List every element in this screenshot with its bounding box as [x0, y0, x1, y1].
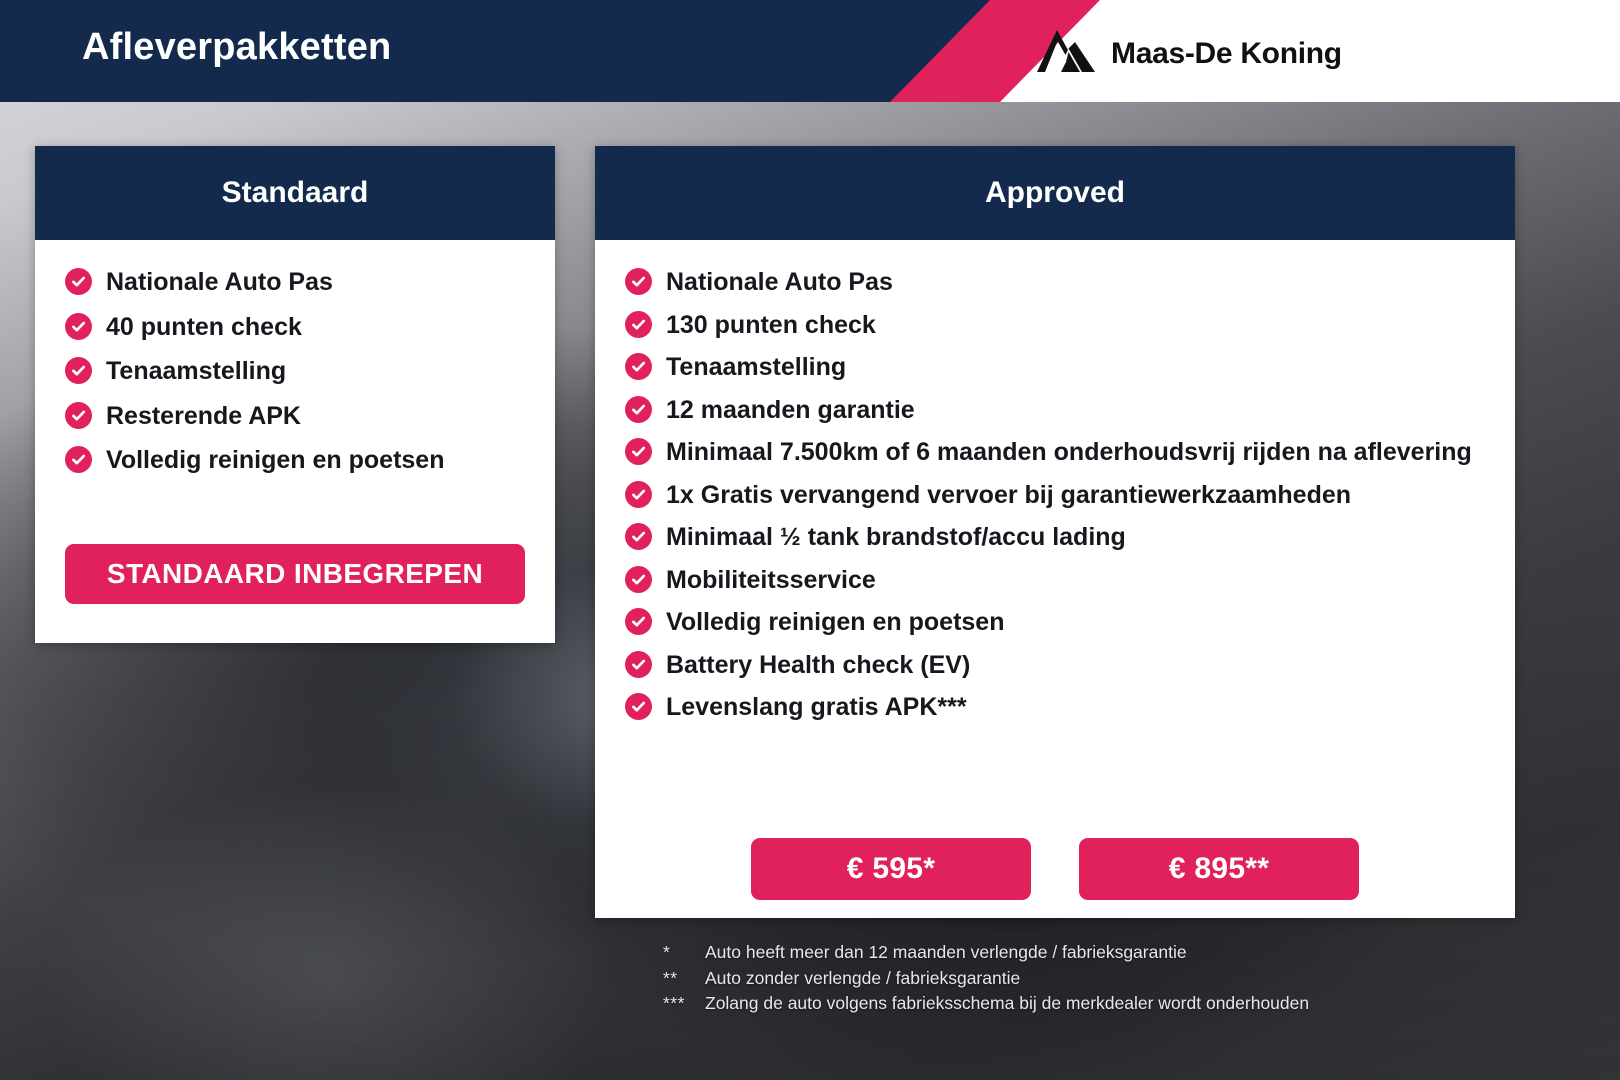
check-circle-icon — [65, 402, 92, 429]
check-circle-icon — [625, 311, 652, 338]
card-body-standaard: Nationale Auto Pas40 punten checkTenaams… — [35, 265, 555, 478]
standaard-inbegrepen-button[interactable]: STANDAARD INBEGREPEN — [65, 544, 525, 604]
check-circle-icon — [625, 651, 652, 678]
list-item: Volledig reinigen en poetsen — [65, 443, 535, 478]
list-item: Volledig reinigen en poetsen — [625, 605, 1495, 640]
list-item-label: Volledig reinigen en poetsen — [106, 443, 444, 478]
card-header-standaard: Standaard — [35, 146, 555, 240]
list-item: Battery Health check (EV) — [625, 648, 1495, 683]
list-item-label: Mobiliteitsservice — [666, 563, 876, 598]
list-item-label: 1x Gratis vervangend vervoer bij garanti… — [666, 478, 1351, 513]
check-circle-icon — [65, 268, 92, 295]
list-item-label: Tenaamstelling — [106, 354, 286, 389]
list-item: Levenslang gratis APK*** — [625, 690, 1495, 725]
check-circle-icon — [625, 566, 652, 593]
page-title: Afleverpakketten — [82, 26, 391, 69]
list-item: Nationale Auto Pas — [625, 265, 1495, 300]
list-item-label: Levenslang gratis APK*** — [666, 690, 967, 725]
list-item: 40 punten check — [65, 310, 535, 345]
list-item-label: 130 punten check — [666, 308, 876, 343]
package-card-standaard: Standaard Nationale Auto Pas40 punten ch… — [35, 146, 555, 643]
list-item-label: Tenaamstelling — [666, 350, 846, 385]
footnote-marker: * — [663, 940, 705, 966]
footnote-block: *Auto heeft meer dan 12 maanden verlengd… — [663, 940, 1543, 1017]
check-circle-icon — [65, 446, 92, 473]
brand-logo: Maas-De Koning — [1035, 28, 1342, 79]
feature-list-approved: Nationale Auto Pas130 punten checkTenaam… — [595, 265, 1515, 725]
footnote-row: ***Zolang de auto volgens fabrieksschema… — [663, 991, 1543, 1017]
check-circle-icon — [625, 438, 652, 465]
footnote-text: Auto heeft meer dan 12 maanden verlengde… — [705, 940, 1543, 966]
check-circle-icon — [65, 313, 92, 340]
check-circle-icon — [625, 523, 652, 550]
list-item-label: 40 punten check — [106, 310, 302, 345]
list-item-label: Resterende APK — [106, 399, 301, 434]
top-banner: Afleverpakketten Maas-De Koning — [0, 0, 1620, 102]
check-circle-icon — [65, 357, 92, 384]
check-circle-icon — [625, 608, 652, 635]
check-circle-icon — [625, 396, 652, 423]
feature-list-standaard: Nationale Auto Pas40 punten checkTenaams… — [35, 265, 555, 478]
poster-canvas: Afleverpakketten Maas-De Koning Standaar… — [0, 0, 1620, 1080]
list-item: Tenaamstelling — [65, 354, 535, 389]
list-item-label: Battery Health check (EV) — [666, 648, 970, 683]
check-circle-icon — [625, 353, 652, 380]
footnote-marker: ** — [663, 966, 705, 992]
list-item: Nationale Auto Pas — [65, 265, 535, 300]
list-item: Tenaamstelling — [625, 350, 1495, 385]
price-button-2[interactable]: € 895** — [1079, 838, 1359, 900]
footnote-row: *Auto heeft meer dan 12 maanden verlengd… — [663, 940, 1543, 966]
list-item-label: 12 maanden garantie — [666, 393, 915, 428]
list-item-label: Minimaal ½ tank brandstof/accu lading — [666, 520, 1126, 555]
list-item: 130 punten check — [625, 308, 1495, 343]
maas-de-koning-m-logo-icon — [1035, 28, 1097, 79]
list-item: Minimaal 7.500km of 6 maanden onderhouds… — [625, 435, 1495, 470]
package-card-approved: Approved Nationale Auto Pas130 punten ch… — [595, 146, 1515, 918]
price-button-row: € 595*€ 895** — [595, 838, 1515, 900]
list-item: Mobiliteitsservice — [625, 563, 1495, 598]
check-circle-icon — [625, 481, 652, 508]
footnote-text: Zolang de auto volgens fabrieksschema bi… — [705, 991, 1543, 1017]
list-item: Minimaal ½ tank brandstof/accu lading — [625, 520, 1495, 555]
footnote-row: **Auto zonder verlengde / fabrieksgarant… — [663, 966, 1543, 992]
footnote-text: Auto zonder verlengde / fabrieksgarantie — [705, 966, 1543, 992]
list-item-label: Minimaal 7.500km of 6 maanden onderhouds… — [666, 435, 1472, 470]
list-item: Resterende APK — [65, 399, 535, 434]
footnote-marker: *** — [663, 991, 705, 1017]
price-button-1[interactable]: € 595* — [751, 838, 1031, 900]
list-item: 1x Gratis vervangend vervoer bij garanti… — [625, 478, 1495, 513]
card-body-approved: Nationale Auto Pas130 punten checkTenaam… — [595, 265, 1515, 725]
list-item: 12 maanden garantie — [625, 393, 1495, 428]
list-item-label: Nationale Auto Pas — [106, 265, 333, 300]
card-header-approved: Approved — [595, 146, 1515, 240]
list-item-label: Volledig reinigen en poetsen — [666, 605, 1004, 640]
list-item-label: Nationale Auto Pas — [666, 265, 893, 300]
check-circle-icon — [625, 268, 652, 295]
brand-name: Maas-De Koning — [1111, 37, 1342, 71]
check-circle-icon — [625, 693, 652, 720]
